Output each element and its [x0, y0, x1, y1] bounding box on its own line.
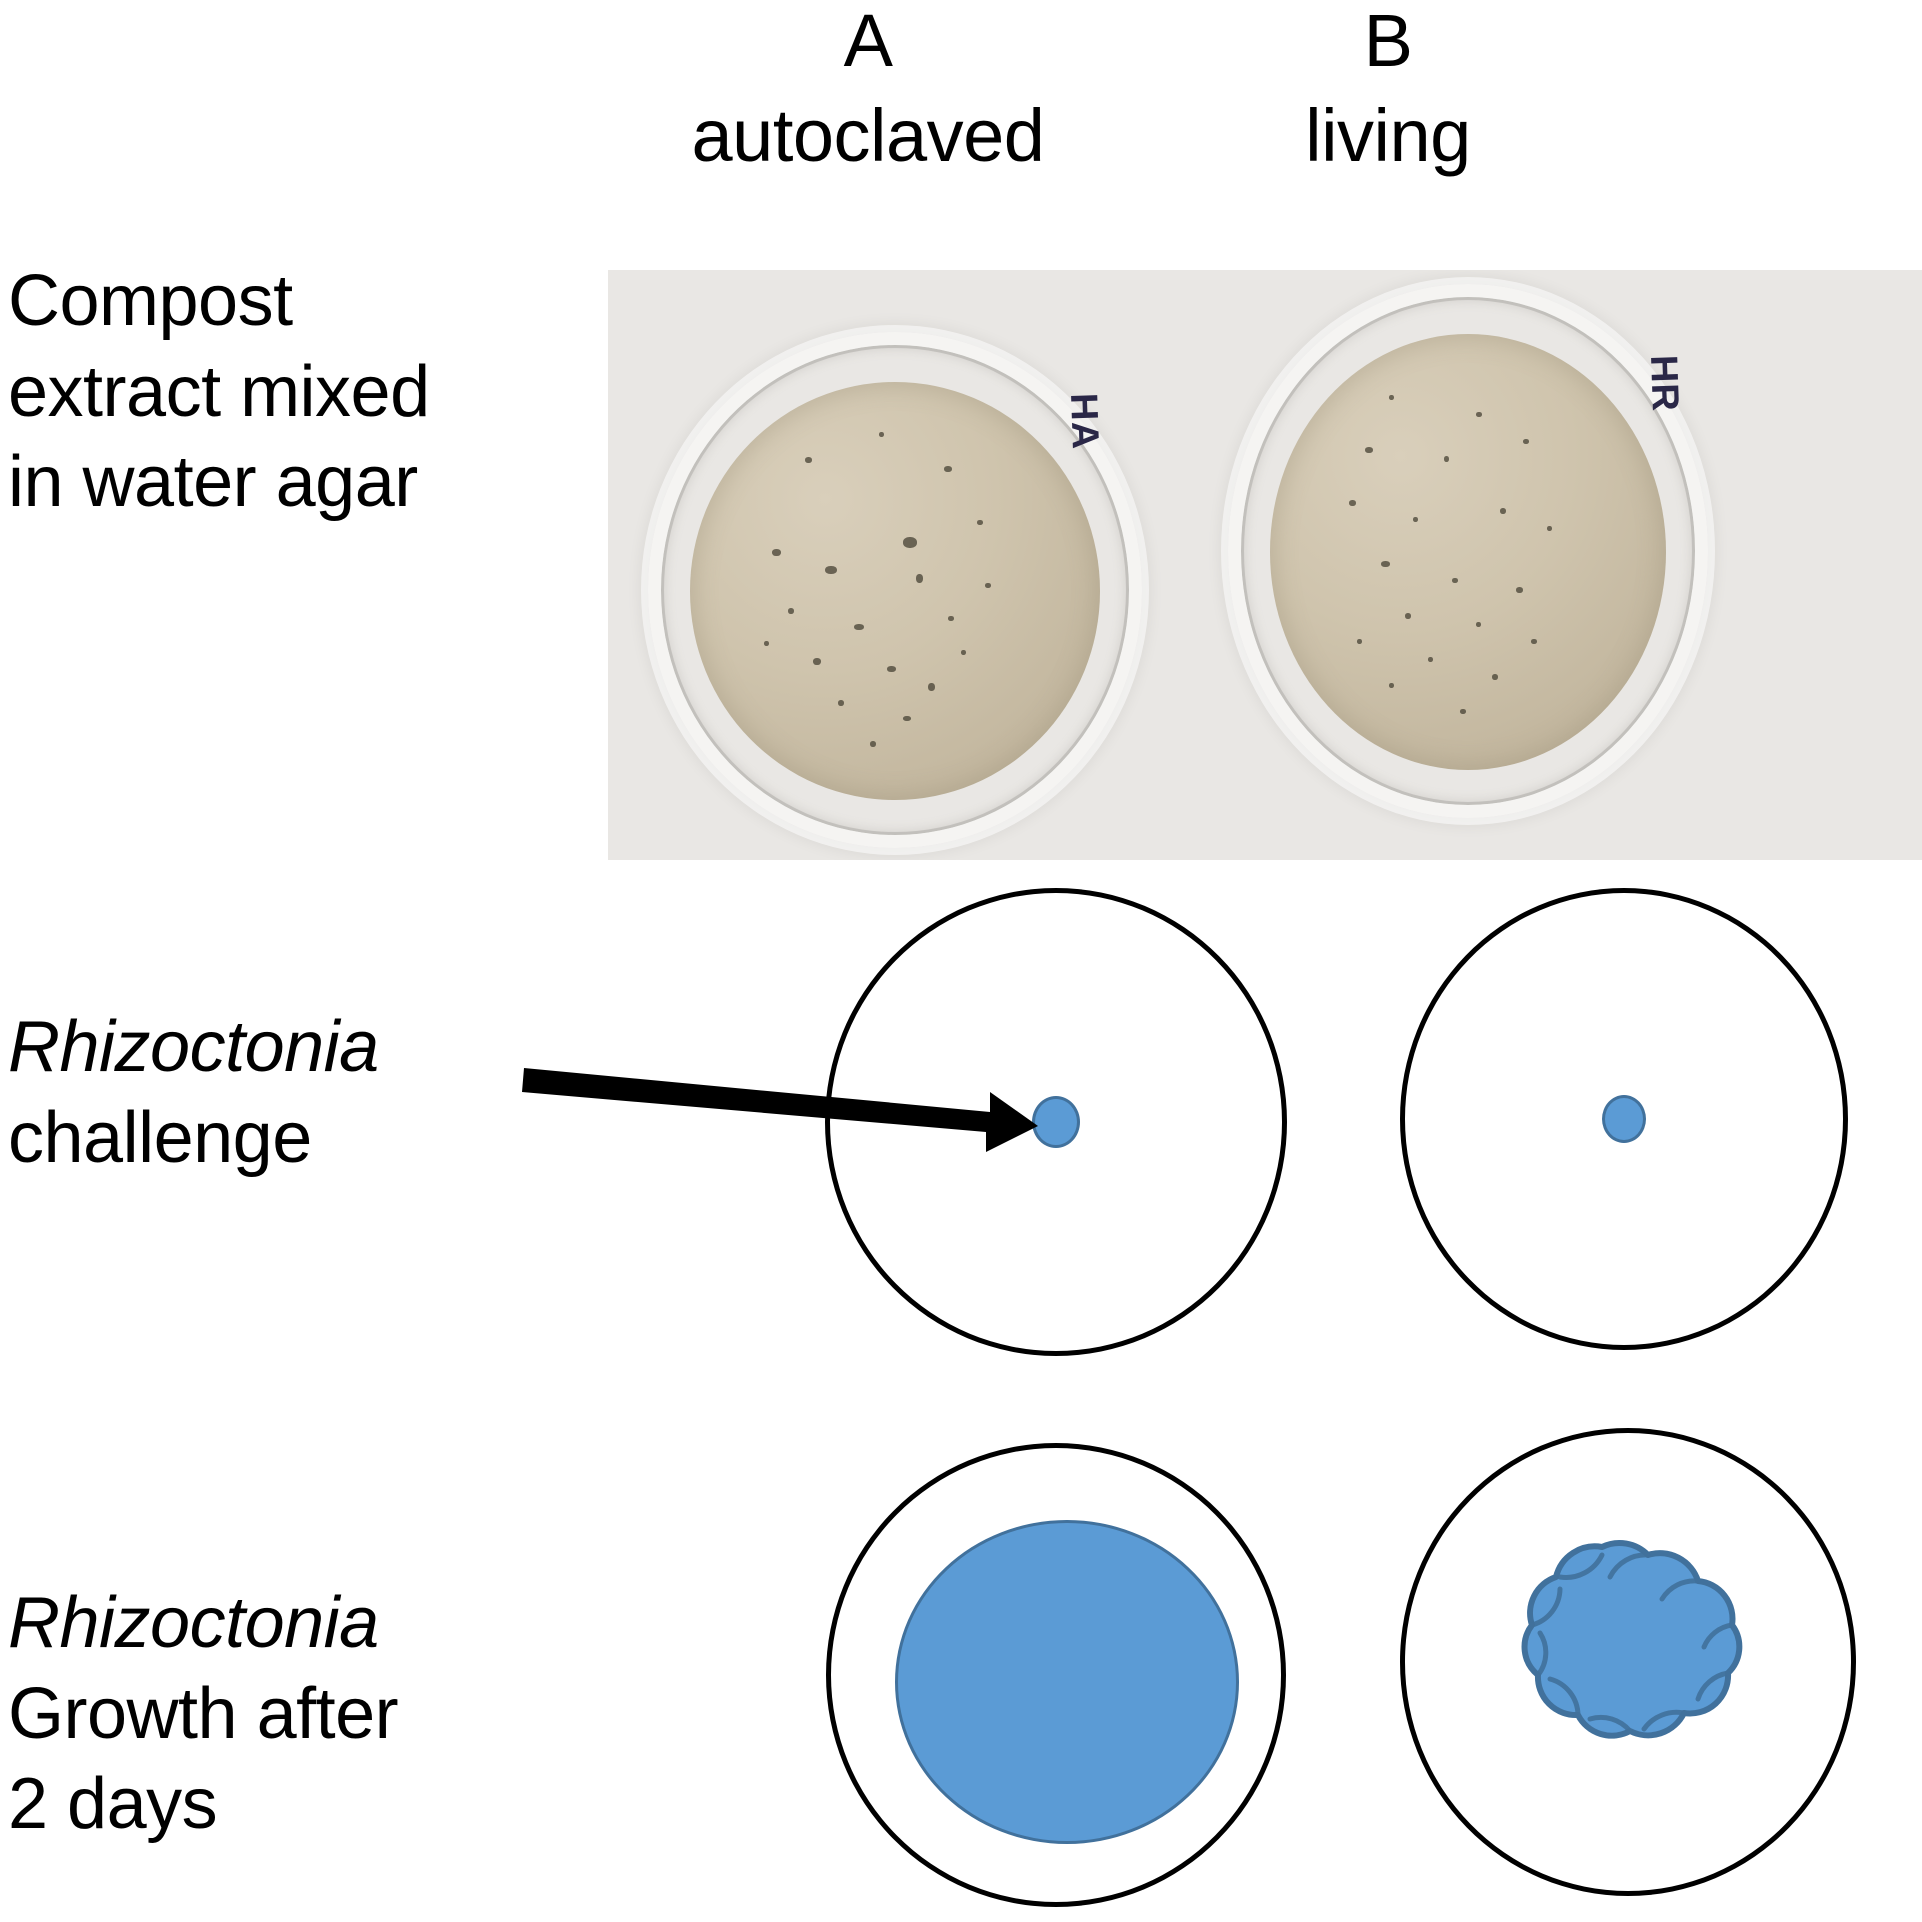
row3-line1-species: Rhizoctonia [8, 1578, 588, 1669]
colony-b-challenge [1602, 1095, 1646, 1143]
row-label-compost-extract: Compost extract mixed in water agar [8, 256, 588, 528]
colony-a-challenge [1032, 1096, 1080, 1148]
dish-a-handwritten-label: HA [1061, 392, 1106, 450]
figure-canvas: A autoclaved B living Compost extract mi… [0, 0, 1922, 1922]
plate-a-challenge [825, 888, 1287, 1356]
column-b-letter: B [1128, 0, 1648, 89]
plate-a-growth [826, 1443, 1286, 1907]
row2-line1-species: Rhizoctonia [8, 1002, 588, 1093]
dish-a-agar [690, 382, 1100, 800]
row-label-rhizoctonia-challenge: Rhizoctonia challenge [8, 1002, 588, 1183]
column-a-letter: A [608, 0, 1128, 89]
column-header-a: A autoclaved [608, 0, 1128, 183]
column-header-b: B living [1128, 0, 1648, 183]
row3-line2: Growth after [8, 1669, 588, 1760]
petri-dish-a: HA [648, 332, 1142, 848]
plate-b-challenge [1400, 888, 1848, 1350]
row2-line2: challenge [8, 1093, 588, 1184]
column-a-label: autoclaved [608, 89, 1128, 184]
column-b-label: living [1128, 89, 1648, 184]
row-label-rhizoctonia-growth: Rhizoctonia Growth after 2 days [8, 1578, 588, 1850]
petri-dish-b: HR [1228, 284, 1708, 818]
petri-dish-photograph: HA [608, 270, 1922, 860]
dish-b-agar [1270, 334, 1666, 770]
row3-line3: 2 days [8, 1759, 588, 1850]
plate-b-growth [1400, 1428, 1856, 1896]
row1-line2: extract mixed [8, 347, 588, 438]
row1-line1: Compost [8, 256, 588, 347]
row1-line3: in water agar [8, 437, 588, 528]
colony-a-growth-large [895, 1520, 1239, 1844]
dish-b-handwritten-label: HR [1641, 354, 1686, 412]
